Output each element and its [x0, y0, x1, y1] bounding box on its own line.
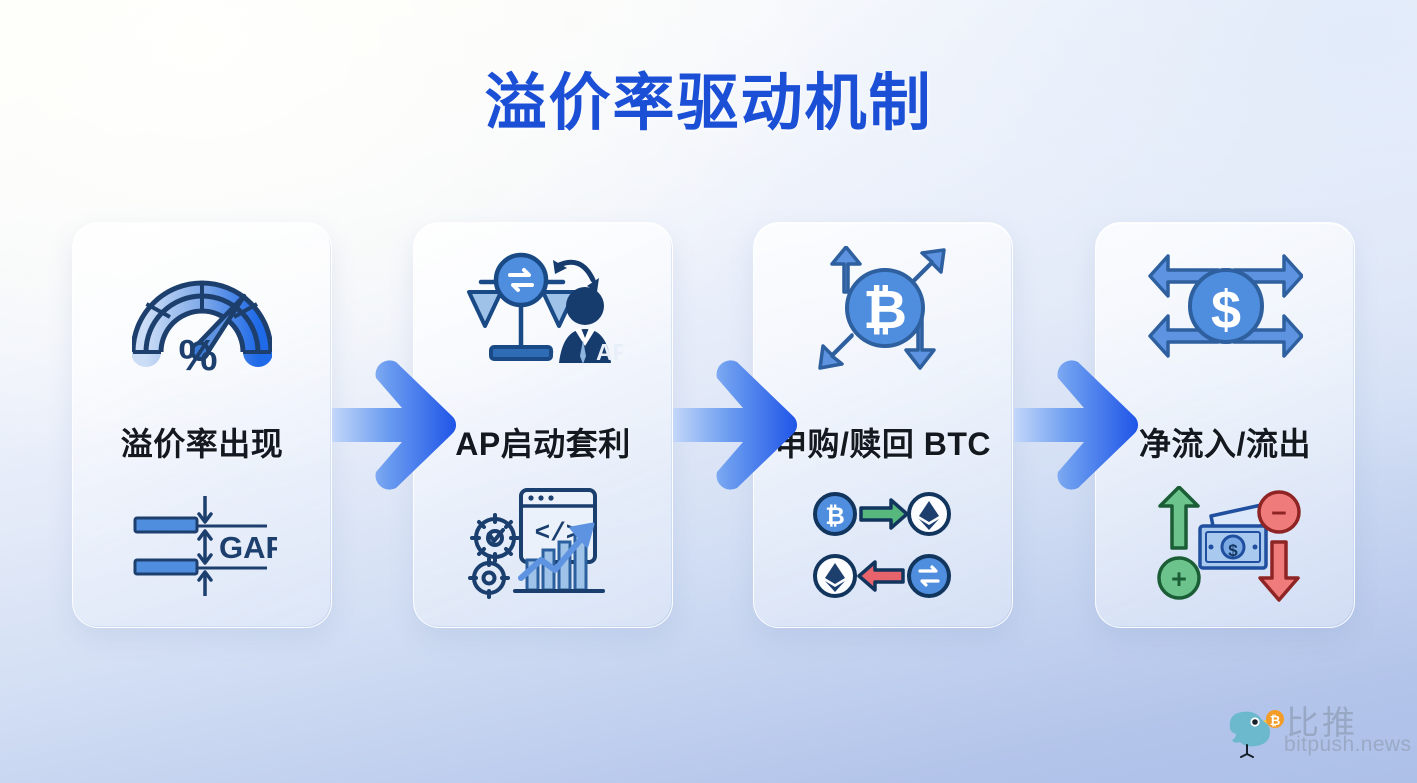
gap-label: GAP — [219, 530, 277, 565]
dollar-four-arrows-icon: $ — [1096, 245, 1354, 375]
plus-symbol: + — [1171, 564, 1187, 594]
svg-text:₿: ₿ — [863, 280, 907, 340]
gauge-percent-icon: % — [73, 245, 331, 375]
dollar-symbol: $ — [1210, 280, 1240, 340]
watermark: ₿ 比推 bitpush.news — [1222, 700, 1402, 762]
bitcoin-four-arrows-icon: ₿ — [754, 245, 1012, 375]
flow-arrow-2 — [671, 360, 801, 490]
svg-text:₿: ₿ — [1270, 713, 1281, 728]
price-gap-icon: GAP — [73, 485, 331, 605]
infographic-canvas: 溢价率驱动机制 — [0, 0, 1417, 783]
flow-diagram: % 溢价率出现 — [72, 222, 1353, 626]
svg-text:%: % — [178, 331, 217, 373]
watermark-name-en: bitpush.news — [1284, 733, 1411, 757]
flow-step-card-1[interactable]: % 溢价率出现 — [72, 222, 332, 628]
svg-text:$: $ — [1228, 541, 1238, 560]
bitpush-bird-bitcoin-icon: ₿ — [1222, 700, 1284, 758]
svg-text:₿: ₿ — [825, 503, 845, 530]
flow-arrow-3 — [1012, 360, 1142, 490]
minus-symbol: − — [1271, 498, 1287, 528]
flow-arrow-1 — [330, 360, 460, 490]
flow-step-label-1: 溢价率出现 — [73, 419, 331, 465]
page-title: 溢价率驱动机制 — [0, 52, 1417, 142]
cash-inflow-outflow-icon: + $ − — [1096, 485, 1354, 605]
btc-eth-swap-icon: ₿ — [754, 485, 1012, 605]
gears-code-growth-chart-icon: </> — [414, 485, 672, 605]
ap-badge-text: AP — [596, 339, 623, 365]
balance-scale-swap-ap-person-icon: AP — [414, 245, 672, 375]
